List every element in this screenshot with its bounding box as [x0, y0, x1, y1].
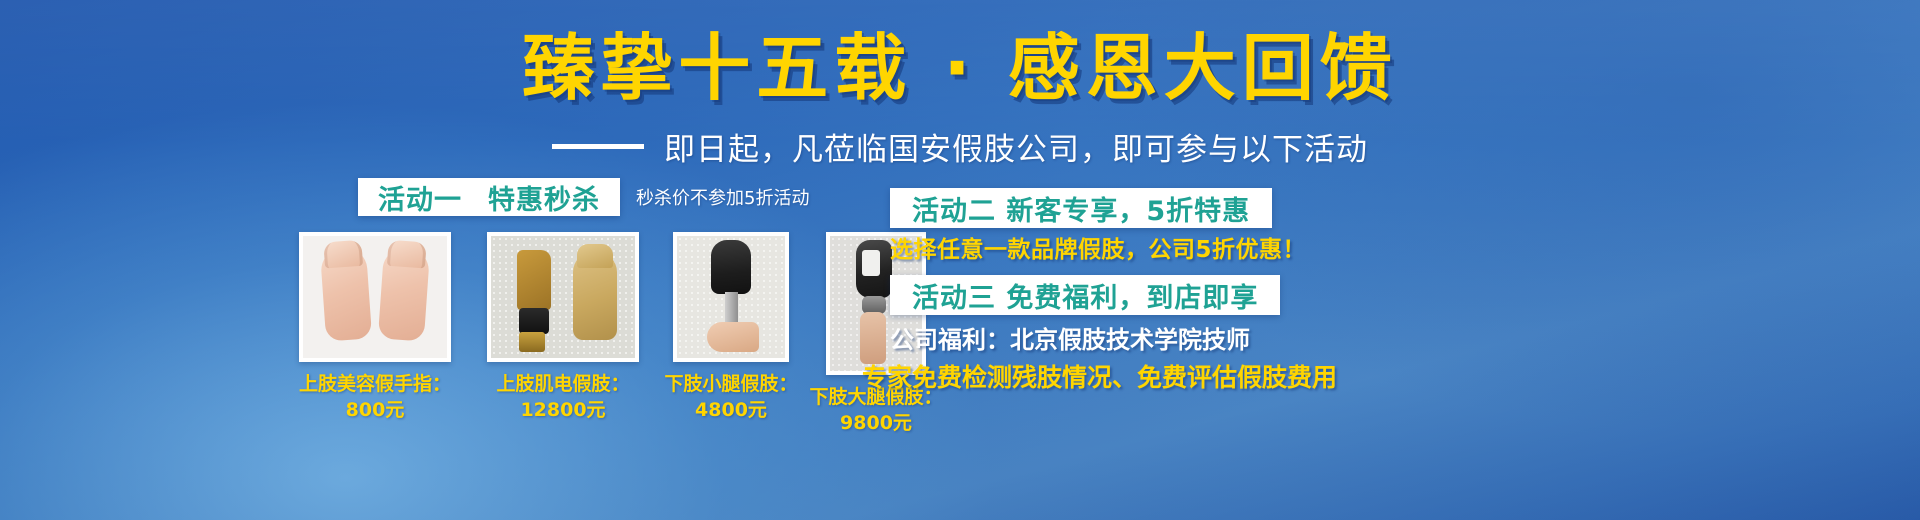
- product-item[interactable]: 下肢小腿假肢： 4800元: [656, 232, 806, 423]
- product-name: 上肢肌电假肢：: [496, 372, 629, 398]
- hands-photo: [303, 236, 447, 358]
- activity-one-badge: 活动一 特惠秒杀: [358, 178, 620, 216]
- product-image-frame: [487, 232, 639, 362]
- activity-one-badge-right: 特惠秒杀: [488, 178, 600, 217]
- activity-two-detail: 选择任意一款品牌假肢，公司5折优惠！: [890, 230, 1306, 264]
- hand-left-shape: [320, 247, 372, 342]
- product-image-frame: [673, 232, 789, 362]
- activity-three-detail-line2: 专家免费检测残肢情况、免费评估假肢费用: [862, 358, 1337, 394]
- mechanical-hand-shape: [517, 250, 551, 310]
- myoelectric-hand-photo: [491, 236, 635, 358]
- hand-right-shape: [378, 247, 430, 342]
- product-list: 上肢美容假手指： 800元 上肢肌电假肢： 12800元: [280, 232, 946, 436]
- banner-subtitle: 即日起，凡莅临国安假肢公司，即可参与以下活动: [664, 124, 1368, 169]
- page-title: 臻挚十五载 · 感恩大回馈: [0, 32, 1920, 104]
- divider-rule: [552, 144, 644, 149]
- socket-shape: [711, 240, 751, 294]
- product-price: 12800元: [520, 398, 605, 424]
- product-price: 800元: [346, 398, 405, 424]
- shank-shape: [860, 312, 886, 364]
- product-name: 上肢美容假手指：: [299, 372, 451, 398]
- promo-banner: 臻挚十五载 · 感恩大回馈 即日起，凡莅临国安假肢公司，即可参与以下活动 活动一…: [0, 0, 1920, 520]
- below-knee-leg-photo: [677, 236, 785, 358]
- product-item[interactable]: 上肢肌电假肢： 12800元: [470, 232, 656, 423]
- foot-shape: [707, 322, 759, 352]
- product-image-frame: [299, 232, 451, 362]
- activity-two-badge: 活动二 新客专享，5折特惠: [890, 188, 1272, 228]
- activity-three-detail-line1: 公司福利：北京假肢技术学院技师: [890, 320, 1250, 355]
- product-price: 9800元: [840, 411, 912, 437]
- cosmetic-glove-shape: [573, 252, 617, 340]
- product-name: 下肢小腿假肢：: [664, 372, 797, 398]
- pylon-shape: [725, 292, 738, 322]
- activity-one-header: 活动一 特惠秒杀 秒杀价不参加5折活动: [358, 178, 809, 216]
- socket-shape: [519, 332, 545, 352]
- product-item[interactable]: 上肢美容假手指： 800元: [280, 232, 470, 423]
- thigh-socket-shape: [856, 240, 892, 298]
- activity-one-note: 秒杀价不参加5折活动: [636, 184, 809, 210]
- subtitle-row: 即日起，凡莅临国安假肢公司，即可参与以下活动: [0, 124, 1920, 169]
- activity-three-badge: 活动三 免费福利，到店即享: [890, 275, 1280, 315]
- product-price: 4800元: [695, 398, 767, 424]
- activity-one-badge-left: 活动一: [378, 178, 462, 217]
